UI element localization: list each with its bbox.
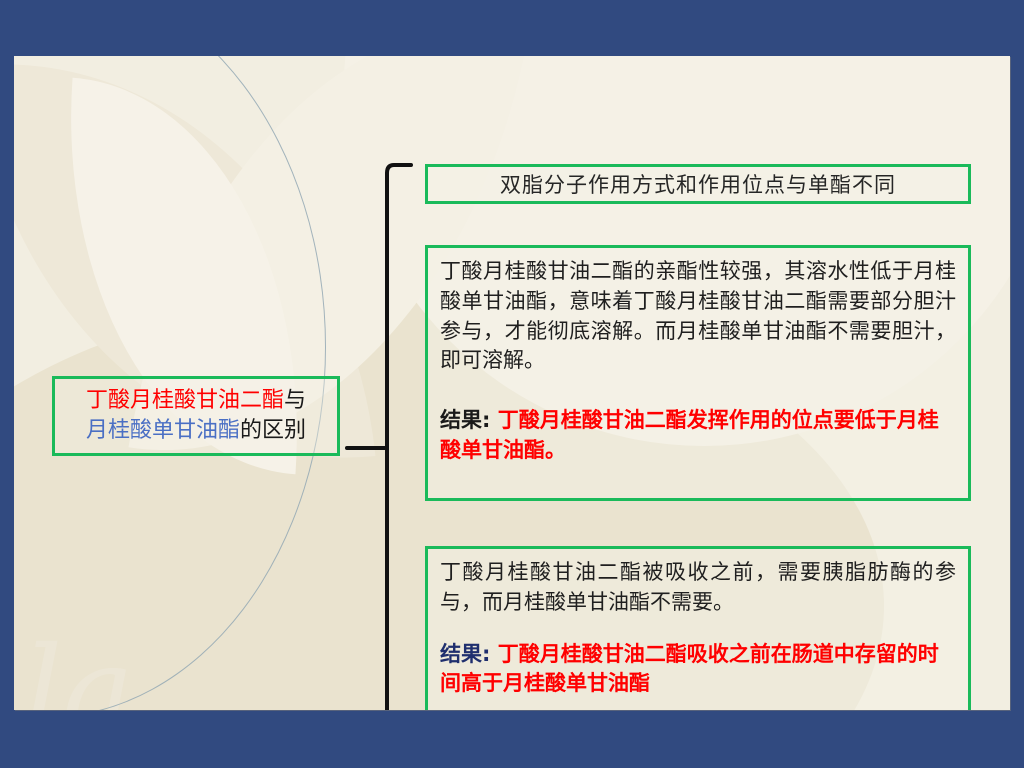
absorption-paragraph: 丁酸月桂酸甘油二酯被吸收之前，需要胰脂肪酶的参与，而月桂酸单甘油酯不需要。 [440,558,956,618]
statement-title-text: 双脂分子作用方式和作用位点与单酯不同 [500,169,896,199]
topic-label-line-1: 丁酸月桂酸甘油二酯与 [55,386,337,416]
slide: la 丁酸月桂酸甘油二酯与 月桂酸单甘油酯的区别 双脂分子作用方式和作用位点与单… [0,0,1024,768]
topic-label-term-monoester: 月桂酸单甘油酯 [86,418,240,443]
topic-label-line-2: 月桂酸单甘油酯的区别 [55,416,337,446]
slide-canvas: la 丁酸月桂酸甘油二酯与 月桂酸单甘油酯的区别 双脂分子作用方式和作用位点与单… [14,56,1010,710]
solubility-result-text: 丁酸月桂酸甘油二酯发挥作用的位点要低于月桂酸单甘油酯。 [440,408,939,461]
solubility-paragraph: 丁酸月桂酸甘油二酯的亲酯性较强，其溶水性低于月桂酸单甘油酯，意味着丁酸月桂酸甘油… [440,257,956,376]
absorption-result: 结果: 丁酸月桂酸甘油二酯吸收之前在肠道中存留的时间高于月桂酸单甘油酯 [440,640,956,699]
topic-label-term-diester: 丁酸月桂酸甘油二酯 [86,388,284,413]
connector-bracket-icon [344,156,416,710]
statement-box-absorption[interactable]: 丁酸月桂酸甘油二酯被吸收之前，需要胰脂肪酶的参与，而月桂酸单甘油酯不需要。 结果… [425,546,971,710]
watermark-letter: la [24,632,134,710]
topic-label-box[interactable]: 丁酸月桂酸甘油二酯与 月桂酸单甘油酯的区别 [52,376,340,456]
solubility-result-label: 结果: [440,408,490,432]
absorption-result-label: 结果: [440,642,490,666]
statement-box-solubility[interactable]: 丁酸月桂酸甘油二酯的亲酯性较强，其溶水性低于月桂酸单甘油酯，意味着丁酸月桂酸甘油… [425,245,971,501]
topic-label-suffix: 的区别 [240,418,306,443]
solubility-result: 结果: 丁酸月桂酸甘油二酯发挥作用的位点要低于月桂酸单甘油酯。 [440,406,956,465]
statement-box-title[interactable]: 双脂分子作用方式和作用位点与单酯不同 [425,164,971,204]
absorption-result-text: 丁酸月桂酸甘油二酯吸收之前在肠道中存留的时间高于月桂酸单甘油酯 [440,642,939,695]
absorption-spacer [440,618,956,640]
topic-label-conjunction: 与 [284,388,306,413]
solubility-spacer [440,376,956,406]
